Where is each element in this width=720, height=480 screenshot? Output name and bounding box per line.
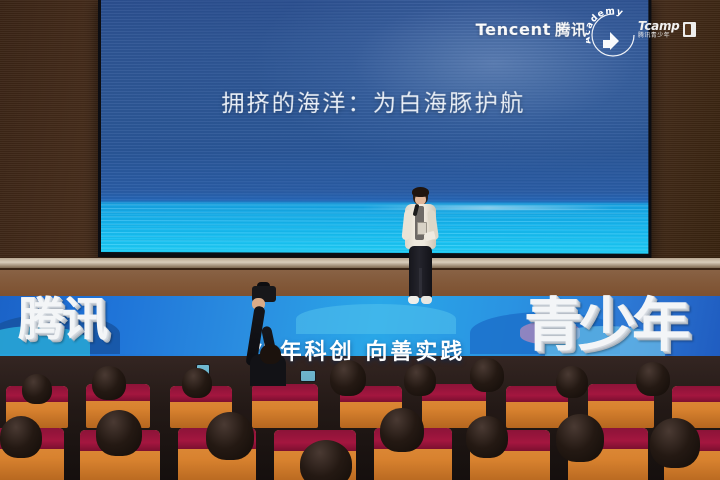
audience-head — [206, 412, 254, 460]
tencent-logo-en: Tencent — [476, 20, 551, 39]
audience-head — [22, 374, 52, 404]
tcamp-logo-name: Tcamp — [638, 20, 679, 32]
audience-head — [330, 360, 366, 396]
academy-badge-icon: Academy — [586, 8, 640, 62]
tcamp-logo: Tcamp 腾讯青少年 — [638, 20, 696, 39]
audience-head — [556, 366, 588, 398]
conference-photo: Tencent腾讯 拥挤的海洋：为白海豚护航 Academy Tcamp 腾讯青… — [0, 0, 720, 480]
audience-head — [182, 368, 212, 398]
tencent-logo: Tencent腾讯 — [476, 19, 587, 41]
audience-head — [650, 418, 700, 468]
ocean-shimmer — [101, 204, 648, 254]
audience-head — [96, 410, 142, 456]
led-screen: Tencent腾讯 拥挤的海洋：为白海豚护航 — [101, 0, 648, 254]
foam-letters-youth: 青少年 — [524, 296, 686, 354]
speaker-right-shoe — [421, 296, 432, 304]
speaker-left-shoe — [408, 296, 419, 304]
speaker-figure — [400, 188, 440, 316]
audience-area — [0, 356, 720, 480]
audience-head — [0, 416, 42, 458]
tencent-logo-cn: 腾讯 — [555, 21, 587, 39]
audience-head — [92, 366, 126, 400]
audience-head — [300, 440, 352, 480]
tcamp-mark-icon — [683, 22, 696, 37]
audience-phone-screen-2 — [300, 370, 316, 382]
slide-title: 拥挤的海洋：为白海豚护航 — [101, 83, 648, 118]
tcamp-logo-subtitle: 腾讯青少年 — [638, 33, 679, 39]
photographer-figure — [236, 292, 302, 384]
led-screen-frame: Tencent腾讯 拥挤的海洋：为白海豚护航 — [98, 0, 651, 259]
audience-head — [470, 358, 504, 392]
svg-text:Academy: Academy — [586, 8, 625, 45]
audience-head — [404, 364, 436, 396]
audience-head — [556, 414, 604, 462]
audience-head — [380, 408, 424, 452]
seat — [252, 384, 318, 428]
speaker-hair — [412, 187, 429, 197]
foam-letters-tencent: 腾讯 — [18, 296, 106, 342]
photographer-head — [260, 344, 281, 364]
speaker-leg-split — [419, 268, 422, 298]
audience-head — [636, 362, 670, 396]
audience-head — [466, 416, 508, 458]
